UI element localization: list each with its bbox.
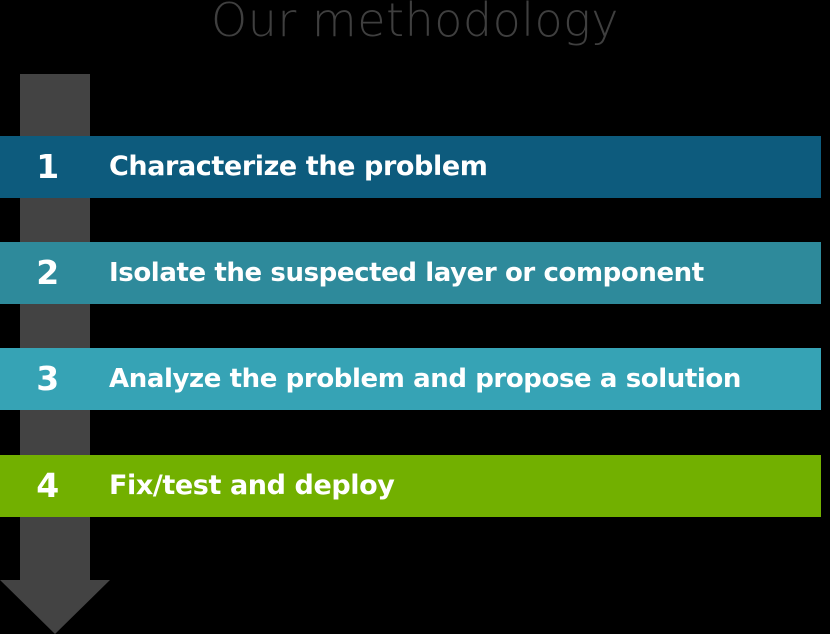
step-number-3: 3 bbox=[0, 348, 95, 410]
step-row-4[interactable]: 4 Fix/test and deploy bbox=[0, 455, 821, 517]
step-number-1: 1 bbox=[0, 136, 95, 198]
step-row-2[interactable]: 2 Isolate the suspected layer or compone… bbox=[0, 242, 821, 304]
step-number-2: 2 bbox=[0, 242, 95, 304]
step-row-1[interactable]: 1 Characterize the problem bbox=[0, 136, 821, 198]
methodology-slide: Our methodology 1 Characterize the probl… bbox=[0, 0, 830, 634]
step-label-3: Analyze the problem and propose a soluti… bbox=[95, 363, 821, 395]
step-label-4: Fix/test and deploy bbox=[95, 470, 821, 502]
page-title: Our methodology bbox=[0, 0, 830, 48]
step-row-3[interactable]: 3 Analyze the problem and propose a solu… bbox=[0, 348, 821, 410]
step-label-2: Isolate the suspected layer or component bbox=[95, 257, 821, 289]
step-number-4: 4 bbox=[0, 455, 95, 517]
step-label-1: Characterize the problem bbox=[95, 151, 821, 183]
